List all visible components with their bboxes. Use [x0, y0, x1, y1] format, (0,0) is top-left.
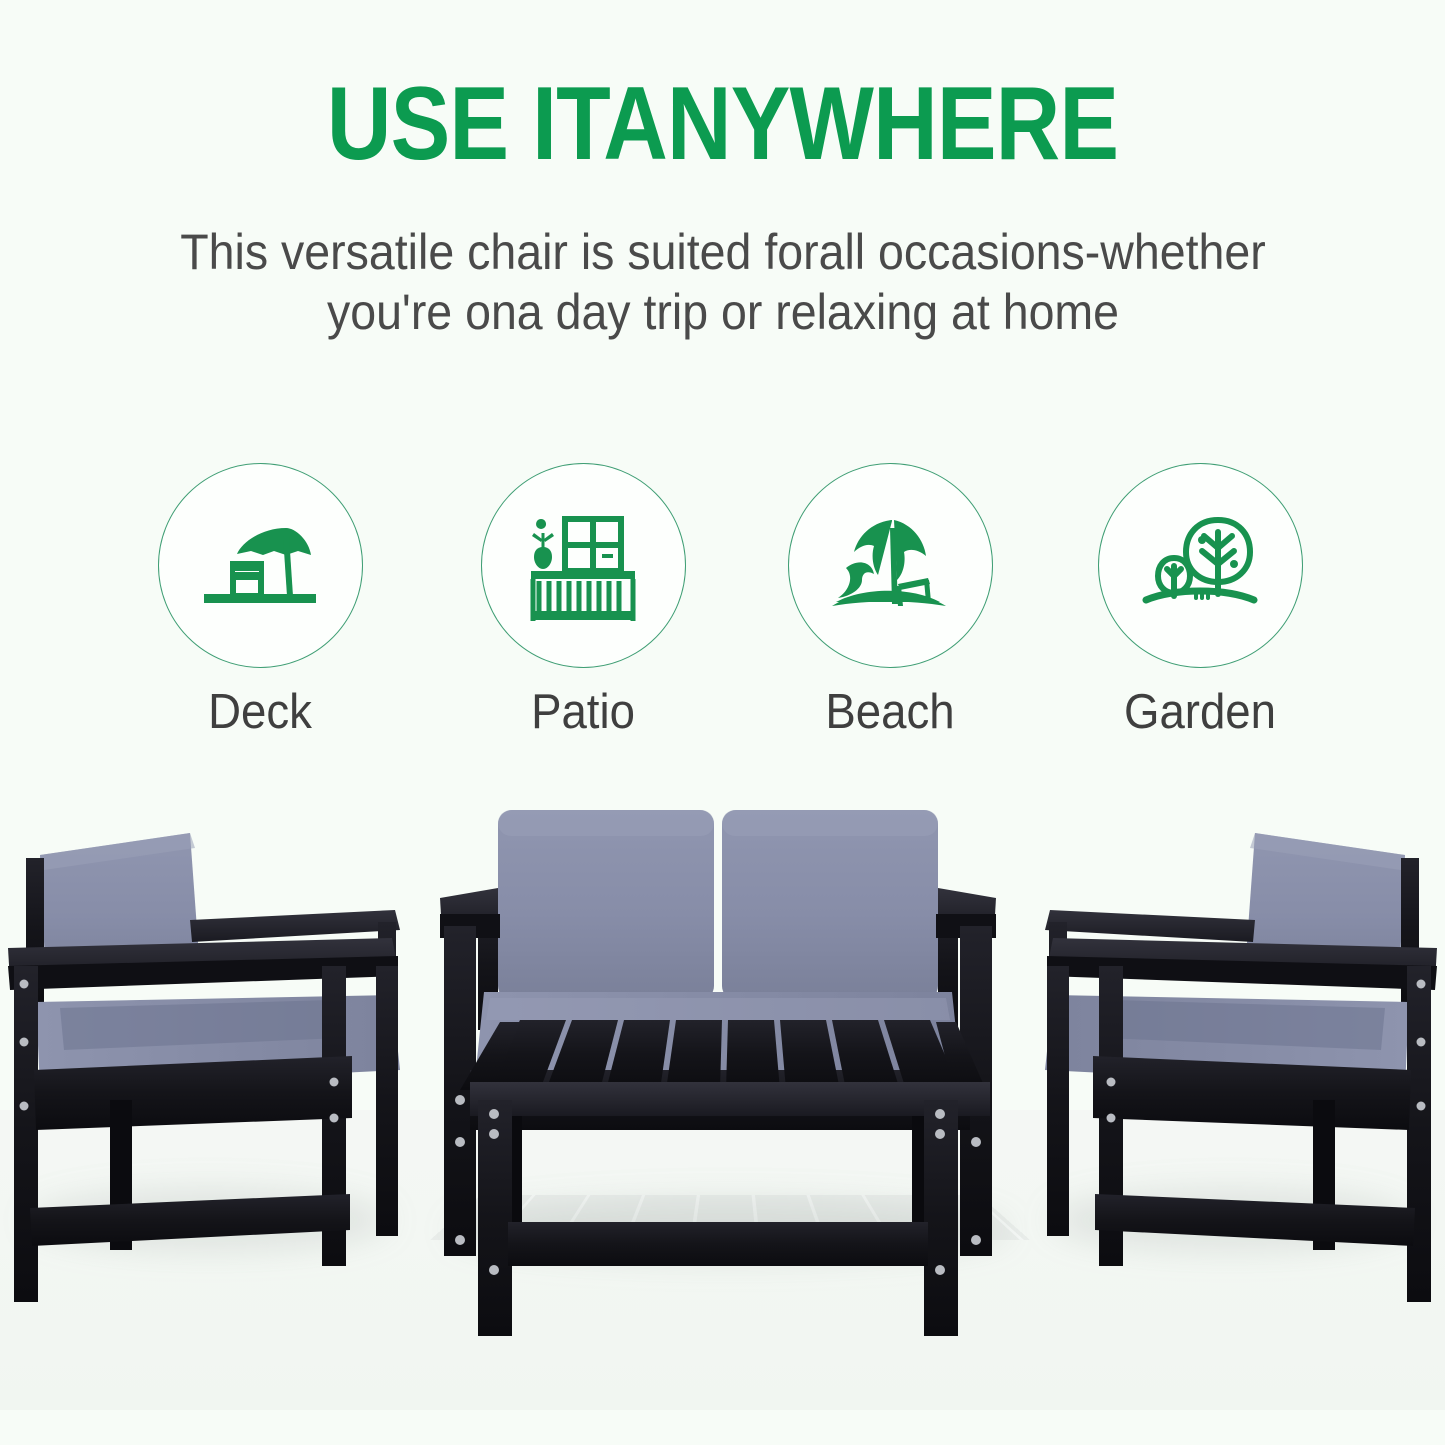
right-armchair — [1045, 833, 1437, 1302]
right-chair-far-arm — [1045, 910, 1255, 942]
left-chair-far-arm — [190, 910, 400, 942]
balcony-railing-window-icon — [513, 503, 653, 628]
feature-circle-garden — [1098, 463, 1303, 668]
page-title: USE ITANYWHERE — [101, 72, 1344, 176]
feature-label-garden: Garden — [1088, 684, 1311, 740]
left-chair-front-leg — [14, 966, 38, 1302]
subtitle-line-2: you're ona day trip or relaxing at home — [90, 282, 1355, 342]
coffee-table-rail — [470, 1082, 990, 1116]
feature-label-deck: Deck — [148, 684, 371, 740]
feature-circle-patio — [481, 463, 686, 668]
left-armchair — [8, 833, 400, 1302]
feature-item-patio: Patio — [463, 463, 703, 740]
loveseat-back-cushion-right — [722, 810, 938, 1000]
feature-item-garden: Garden — [1080, 463, 1320, 740]
loveseat-back-cushion-left — [498, 810, 714, 1000]
feature-circle-deck — [158, 463, 363, 668]
feature-icon-row: Deck — [0, 463, 1445, 763]
product-scene — [0, 770, 1445, 1410]
furniture-illustration — [0, 770, 1445, 1410]
promo-image: USE ITANYWHERE This versatile chair is s… — [0, 0, 1445, 1445]
trees-on-lawn-icon — [1130, 506, 1270, 626]
subtitle-line-1: This versatile chair is suited forall oc… — [90, 222, 1355, 282]
feature-label-beach: Beach — [778, 684, 1001, 740]
coffee-table-stretcher — [508, 1222, 928, 1266]
right-chair-front-leg — [1407, 966, 1431, 1302]
wave-umbrella-lounger-icon — [820, 506, 960, 626]
feature-circle-beach — [788, 463, 993, 668]
feature-item-beach: Beach — [770, 463, 1010, 740]
feature-item-deck: Deck — [140, 463, 380, 740]
left-chair-stretcher — [30, 1194, 350, 1246]
subtitle: This versatile chair is suited forall oc… — [90, 222, 1355, 342]
feature-label-patio: Patio — [471, 684, 694, 740]
right-chair-stretcher — [1095, 1194, 1415, 1246]
beach-chair-umbrella-icon — [190, 506, 330, 626]
